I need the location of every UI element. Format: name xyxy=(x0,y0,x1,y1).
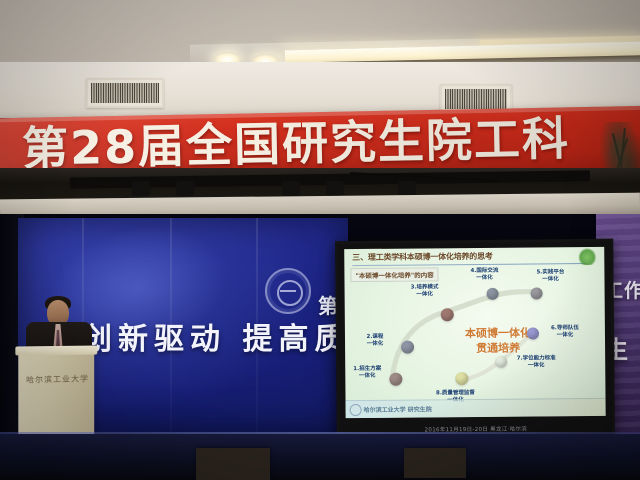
university-logo-icon xyxy=(350,404,362,416)
slide-footer-institution: 哈尔滨工业大学 研究生院 xyxy=(364,404,432,414)
node-label-line2: 一体化 xyxy=(355,341,395,348)
slide-node-6 xyxy=(527,327,539,339)
node-label-line2: 一体化 xyxy=(403,291,447,298)
slide-node-label-6: 6.导师队伍一体化 xyxy=(543,325,587,339)
conference-photo-scene: 第28届全国研究生院工科 第2 创新驱动 提高质 工作 生 xyxy=(0,0,640,480)
stage-floor-monitor xyxy=(196,448,270,480)
vent-louvers xyxy=(445,89,507,109)
center-label-line2: 贯通培养 xyxy=(453,340,543,356)
podium-institution-text: 哈尔滨工业大学 xyxy=(26,373,89,386)
node-label-line2: 一体化 xyxy=(528,276,572,283)
backdrop-slogan: 创新驱动 提高质 xyxy=(82,322,350,358)
stage-light-can xyxy=(398,181,416,196)
stage-floor-monitor xyxy=(404,448,466,478)
slide-node-5 xyxy=(531,287,543,299)
node-label-line2: 一体化 xyxy=(347,373,387,380)
hvac-vent-left-icon xyxy=(86,78,164,108)
projected-slide: 三、理工类学科本硕博一体化培养的思考 "本硕博一体化培养"的内容 本硕博一体化 … xyxy=(344,247,605,418)
stage-light-can xyxy=(326,181,344,196)
slide-node-label-2: 2.课程一体化 xyxy=(355,334,395,348)
slide-node-2 xyxy=(401,341,414,354)
slide-node-label-1: 1.招生方案一体化 xyxy=(347,366,387,380)
conference-emblem-icon xyxy=(265,268,311,314)
slide-node-label-3: 3.培养模式一体化 xyxy=(403,284,447,298)
node-label-line2: 一体化 xyxy=(511,362,561,369)
slide-node-label-5: 5.实践平台一体化 xyxy=(528,269,572,283)
stage-light-can xyxy=(176,181,194,196)
podium-top-surface xyxy=(15,345,97,355)
projection-screen-frame: 三、理工类学科本硕博一体化培养的思考 "本硕博一体化培养"的内容 本硕博一体化 … xyxy=(335,239,615,439)
slide-node-4 xyxy=(487,288,499,300)
node-label-line2: 一体化 xyxy=(543,332,587,339)
slide-node-label-7: 7.学位能力标准一体化 xyxy=(511,355,561,369)
slide-node-7 xyxy=(495,356,507,368)
emblem-bar xyxy=(280,290,296,292)
slide-node-8 xyxy=(455,372,468,385)
slide-node-1 xyxy=(389,373,402,386)
node-label-line2: 一体化 xyxy=(462,275,506,282)
stage-light-can xyxy=(132,181,150,196)
stage-floor xyxy=(0,434,640,480)
slide-node-label-4: 4.国际交流一体化 xyxy=(462,268,506,282)
stage-light-can xyxy=(282,181,300,196)
emblem-inner-ring xyxy=(277,280,303,306)
vent-louvers xyxy=(91,83,159,103)
slide-node-3 xyxy=(441,308,454,321)
slide-footer: 哈尔滨工业大学 研究生院 xyxy=(346,398,606,418)
